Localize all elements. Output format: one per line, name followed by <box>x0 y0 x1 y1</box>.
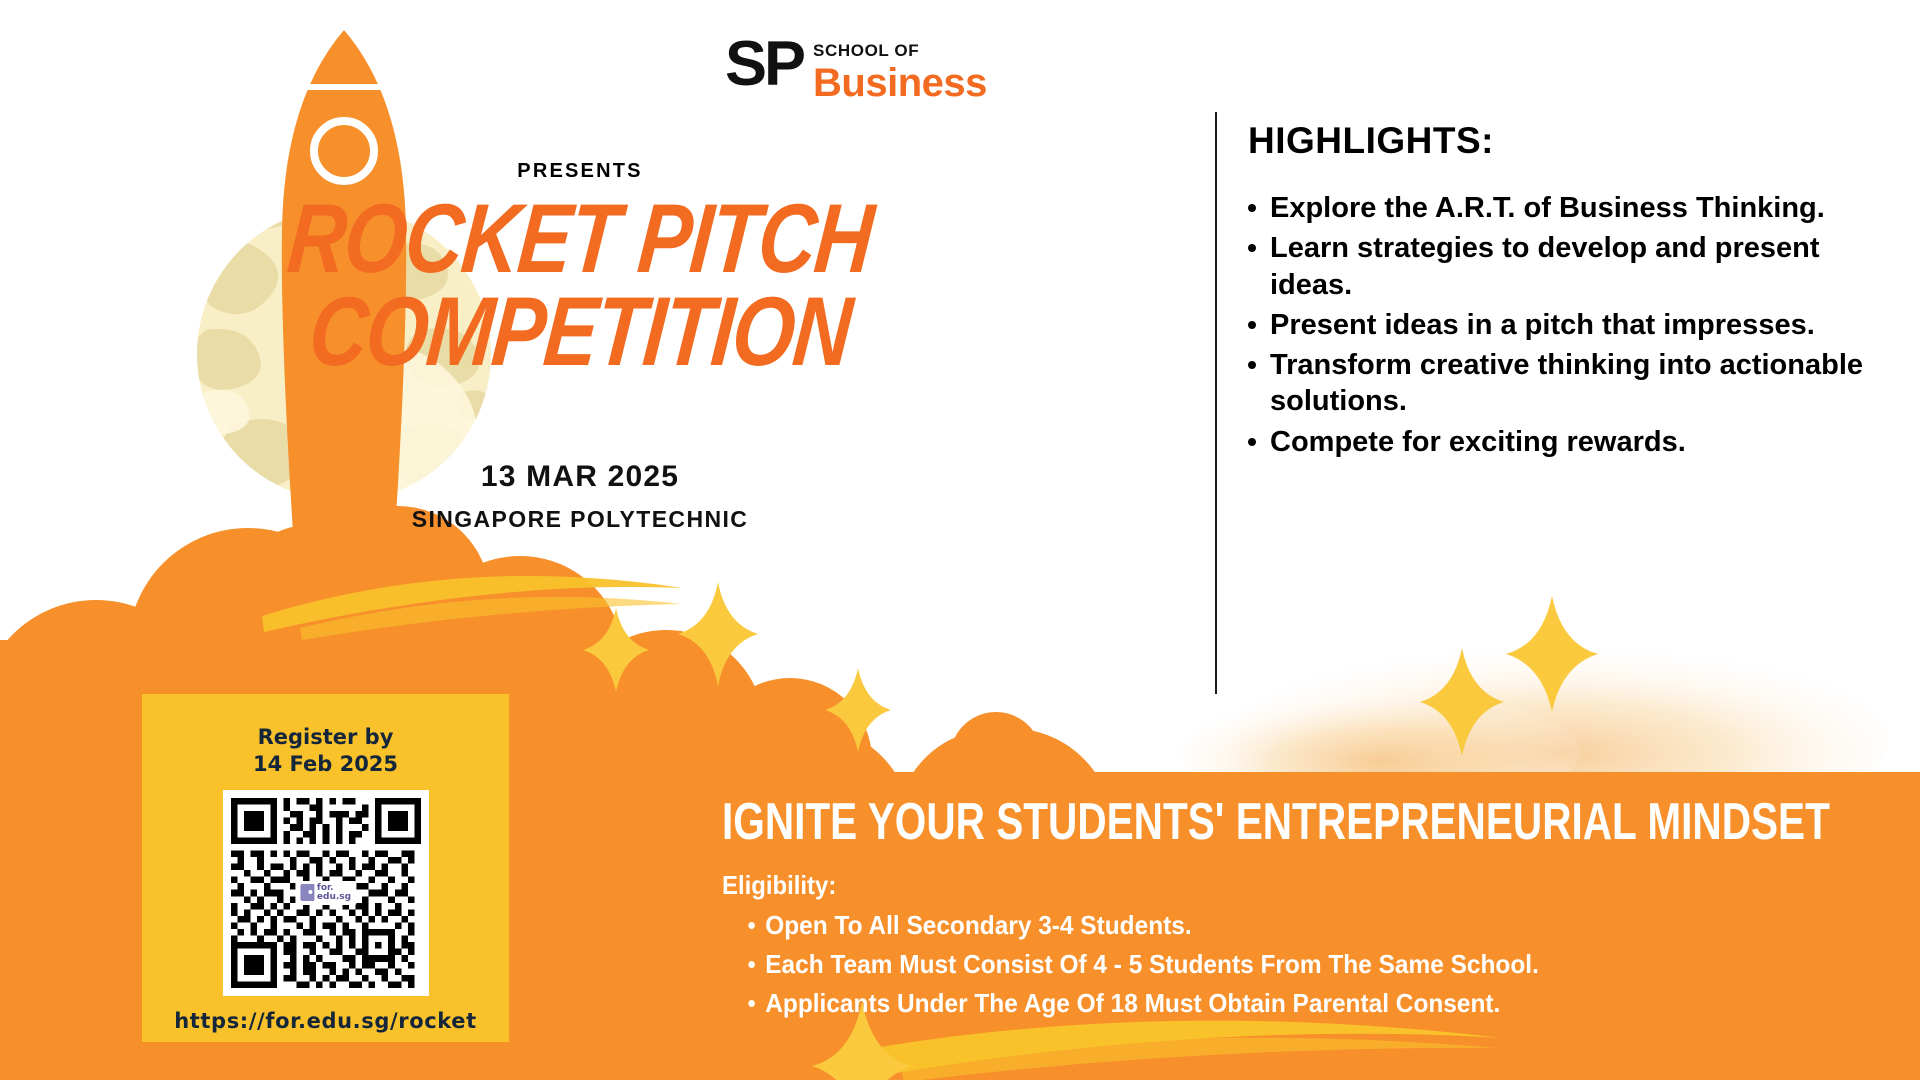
qr-code[interactable]: for. edu.sg <box>223 790 429 996</box>
register-by-line-2: 14 Feb 2025 <box>142 751 509 778</box>
list-item: Applicants Under The Age Of 18 Must Obta… <box>722 989 1831 1019</box>
event-venue: SINGAPORE POLYTECHNIC <box>0 506 1160 533</box>
logo-business: Business <box>813 62 987 104</box>
event-title: ROCKET PITCH COMPETITION <box>0 192 1160 378</box>
qr-logo-line-2: edu.sg <box>317 893 351 902</box>
list-item: Present ideas in a pitch that impresses. <box>1236 307 1896 343</box>
qr-logo-text: for. edu.sg <box>317 884 351 902</box>
eligibility-label: Eligibility: <box>722 870 1808 901</box>
list-item: Each Team Must Consist Of 4 - 5 Students… <box>722 950 1831 980</box>
eligibility-list: Open To All Secondary 3-4 Students. Each… <box>722 911 1902 1019</box>
registration-url[interactable]: https://for.edu.sg/rocket <box>142 1009 509 1033</box>
exhaust-streaks <box>248 590 442 654</box>
sp-monogram: SP <box>725 38 803 92</box>
book-icon <box>300 884 314 901</box>
event-date: 13 MAR 2025 <box>0 460 1160 494</box>
registration-card: Register by 14 Feb 2025 <box>142 694 509 1042</box>
logo-wordmark: SCHOOL OF Business <box>813 38 987 104</box>
highlights-divider <box>1215 112 1217 694</box>
event-title-line-2: COMPETITION <box>100 285 1059 378</box>
event-details: 13 MAR 2025 SINGAPORE POLYTECHNIC <box>0 460 1160 533</box>
list-item: Learn strategies to develop and present … <box>1236 230 1896 303</box>
list-item: Open To All Secondary 3-4 Students. <box>722 911 1831 941</box>
banner-headline: IGNITE YOUR STUDENTS' ENTREPRENEURIAL MI… <box>722 796 1642 848</box>
highlights-heading: HIGHLIGHTS: <box>1236 120 1896 162</box>
register-by-line-1: Register by <box>142 724 509 751</box>
sp-school-of-business-logo: SP SCHOOL OF Business <box>725 38 987 104</box>
list-item: Compete for exciting rewards. <box>1236 424 1896 460</box>
bottom-banner: IGNITE YOUR STUDENTS' ENTREPRENEURIAL MI… <box>722 796 1902 1028</box>
qr-center-logo: for. edu.sg <box>295 881 356 905</box>
register-by-label: Register by 14 Feb 2025 <box>142 724 509 778</box>
highlights-section: HIGHLIGHTS: Explore the A.R.T. of Busine… <box>1236 120 1896 464</box>
event-title-line-1: ROCKET PITCH <box>100 192 1059 285</box>
poster-canvas: SP SCHOOL OF Business PRESENTS ROCKET PI… <box>0 0 1920 1080</box>
list-item: Transform creative thinking into actiona… <box>1236 347 1896 420</box>
presents-label: PRESENTS <box>0 160 1160 183</box>
logo-school-of: SCHOOL OF <box>813 42 987 59</box>
highlights-list: Explore the A.R.T. of Business Thinking.… <box>1236 190 1896 460</box>
list-item: Explore the A.R.T. of Business Thinking. <box>1236 190 1896 226</box>
